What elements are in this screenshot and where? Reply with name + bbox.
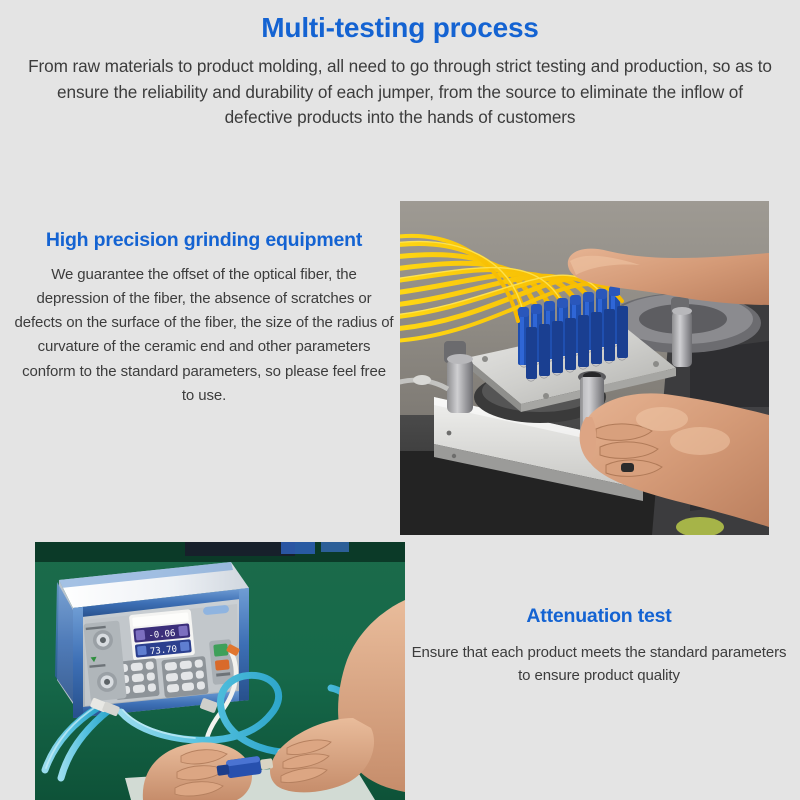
fiber-grinding-machine-illustration [400, 201, 769, 535]
header: Multi-testing process From raw materials… [0, 0, 800, 131]
page-title: Multi-testing process [22, 12, 778, 44]
intro-paragraph: From raw materials to product molding, a… [22, 54, 778, 130]
marketing-infographic: Multi-testing process From raw materials… [0, 0, 800, 800]
section-attenuation-title: Attenuation test [408, 604, 790, 629]
attenuation-test-photo: -0.06 73.70 [35, 542, 405, 800]
section-grinding-title: High precision grinding equipment [14, 228, 394, 253]
section-attenuation-body: Ensure that each product meets the stand… [408, 641, 790, 688]
section-grinding-body: We guarantee the offset of the optical f… [14, 263, 394, 409]
attenuation-test-illustration: -0.06 73.70 [35, 542, 405, 800]
section-attenuation-text: Attenuation test Ensure that each produc… [408, 604, 790, 687]
section-grinding-text: High precision grinding equipment We gua… [14, 228, 394, 408]
fiber-grinding-machine-photo [400, 201, 769, 535]
